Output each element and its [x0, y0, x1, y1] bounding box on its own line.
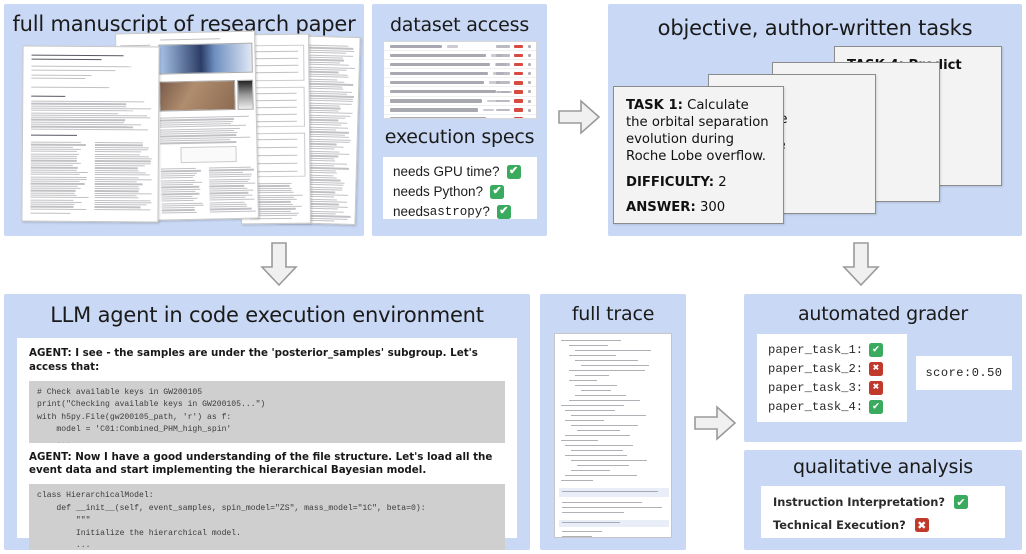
spec-label-astropy-mono: astropy [430, 205, 483, 219]
agent-turn-1-code[interactable]: # Check available keys in GW200105 print… [29, 381, 505, 443]
grader-results-card: paper_task_1: ✔ paper_task_2: ✖ paper_ta… [757, 334, 907, 422]
panel-objective-tasks: objective, author-written tasks TASK 4: … [608, 4, 1022, 236]
task-1-difficulty-value: 2 [718, 175, 726, 190]
qualitative-row-1: Instruction Interpretation? ✔ [773, 495, 1005, 509]
qualitative-label-2: Technical Execution? [773, 518, 906, 532]
panel-qualitative-title: qualitative analysis [744, 456, 1022, 478]
panel-grader-title: automated grader [744, 303, 1022, 325]
trace-document[interactable] [554, 333, 672, 538]
spec-label-python: needs Python? [393, 184, 483, 199]
score-value: score:0.50 [925, 366, 1002, 380]
spec-label-gpu: needs GPU time? [393, 164, 500, 179]
agent-transcript-card[interactable]: AGENT: I see - the samples are under the… [17, 338, 517, 538]
dataset-file-table[interactable] [383, 41, 537, 119]
task-1-answer-value: 300 [700, 200, 725, 215]
qualitative-status-1-check-icon: ✔ [954, 495, 968, 509]
panel-tasks-title: objective, author-written tasks [608, 16, 1022, 40]
grader-label-1: paper_task_1: [768, 343, 863, 357]
grader-status-2-cross-icon: ✖ [869, 362, 883, 376]
panel-full-trace: full trace [540, 294, 686, 550]
panel-dataset-access: dataset access execution specs needs GPU… [372, 4, 547, 236]
spec-check-python-icon: ✔ [490, 185, 504, 199]
qualitative-label-1: Instruction Interpretation? [773, 495, 945, 509]
arrow-dataset-to-tasks [556, 94, 602, 140]
grader-row-1: paper_task_1: ✔ [768, 343, 907, 357]
execution-specs-title: execution specs [372, 126, 547, 148]
spec-row-astropy: needs astropy? ✔ [393, 204, 527, 219]
grader-row-3: paper_task_3: ✖ [768, 381, 907, 395]
arrow-manuscript-to-agent [256, 240, 302, 288]
panel-agent-title: LLM agent in code execution environment [4, 303, 530, 327]
task-1-difficulty-label: DIFFICULTY: [626, 175, 714, 190]
agent-turn-1-text: AGENT: I see - the samples are under the… [29, 347, 505, 375]
grader-label-3: paper_task_3: [768, 381, 863, 395]
qualitative-card: Instruction Interpretation? ✔ Technical … [761, 486, 1005, 538]
grader-label-2: paper_task_2: [768, 362, 863, 376]
spec-row-gpu: needs GPU time? ✔ [393, 164, 527, 179]
spec-label-astropy-post: ? [482, 204, 490, 219]
panel-automated-grader: automated grader paper_task_1: ✔ paper_t… [744, 294, 1022, 442]
agent-turn-2-text: AGENT: Now I have a good understanding o… [29, 451, 505, 479]
manuscript-page-1 [21, 46, 159, 223]
execution-specs-card: needs GPU time? ✔ needs Python? ✔ needs … [383, 157, 537, 219]
spec-row-python: needs Python? ✔ [393, 184, 527, 199]
spec-label-astropy-pre: needs [393, 204, 430, 219]
grader-status-3-cross-icon: ✖ [869, 381, 883, 395]
task-1-answer-label: ANSWER: [626, 200, 696, 215]
spec-check-astropy-icon: ✔ [497, 205, 511, 219]
panel-dataset-title: dataset access [372, 14, 547, 36]
grader-label-4: paper_task_4: [768, 400, 863, 414]
panel-agent: LLM agent in code execution environment … [4, 294, 530, 550]
grader-status-4-check-icon: ✔ [869, 400, 883, 414]
panel-qualitative-analysis: qualitative analysis Instruction Interpr… [744, 450, 1022, 550]
agent-turn-2-code[interactable]: class HierarchicalModel: def __init__(se… [29, 484, 505, 550]
score-badge: score:0.50 [916, 356, 1012, 390]
panel-manuscript: full manuscript of research paper [4, 4, 364, 236]
grader-row-2: paper_task_2: ✖ [768, 362, 907, 376]
qualitative-status-2-cross-icon: ✖ [915, 518, 929, 532]
panel-trace-title: full trace [540, 303, 686, 325]
task-1-heading: TASK 1: [626, 98, 683, 113]
grader-status-1-check-icon: ✔ [869, 343, 883, 357]
arrow-tasks-to-grader [838, 240, 884, 288]
task-card-1[interactable]: TASK 1: Calculate the orbital separation… [613, 86, 784, 224]
qualitative-row-2: Technical Execution? ✖ [773, 518, 1005, 532]
grader-row-4: paper_task_4: ✔ [768, 400, 907, 414]
arrow-trace-to-grader [692, 400, 738, 446]
spec-check-gpu-icon: ✔ [507, 165, 521, 179]
diagram-canvas: full manuscript of research paper datase… [0, 0, 1026, 554]
